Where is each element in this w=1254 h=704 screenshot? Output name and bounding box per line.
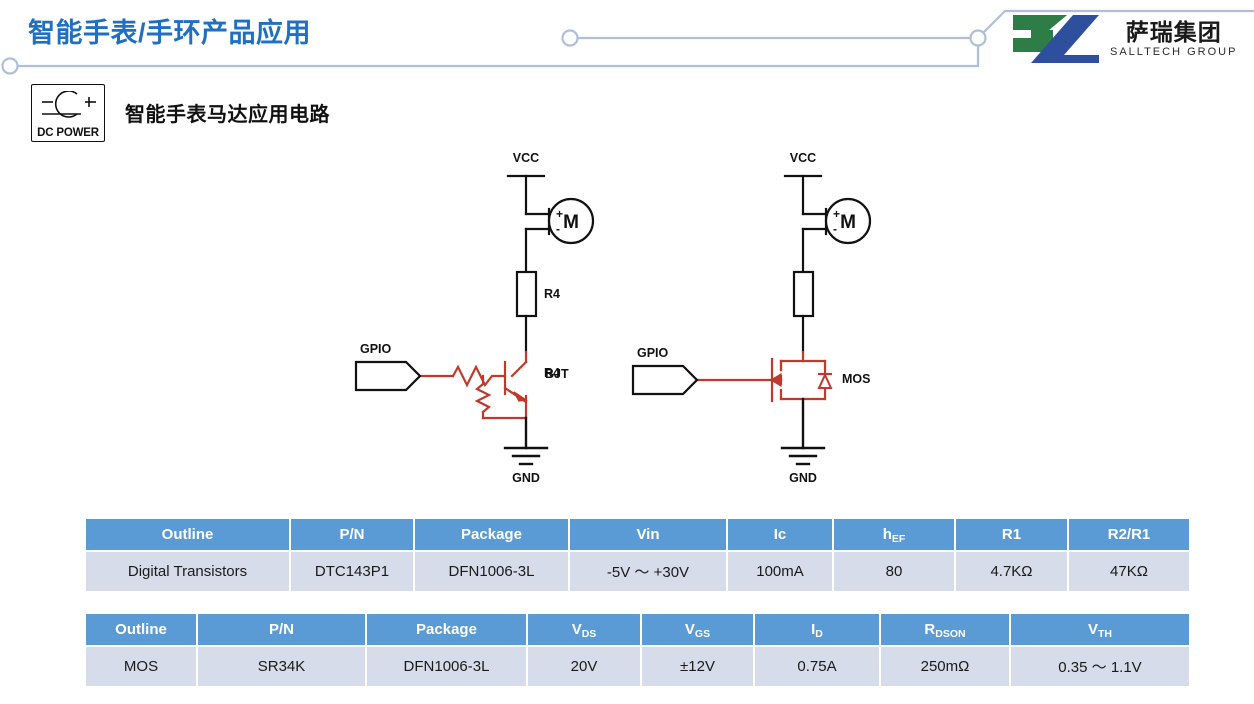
section-heading: 智能手表马达应用电路	[125, 98, 330, 127]
mos-motor-plus: +	[833, 207, 840, 221]
mos-body-diode	[819, 375, 831, 388]
table-cell-2: DFN1006-3L	[366, 646, 527, 686]
bjt-gpio-label: GPIO	[360, 342, 392, 356]
dc-power-icon	[39, 91, 99, 125]
slide-page: 智能手表/手环产品应用 萨瑞集团 SALLTECH GROUP	[0, 0, 1254, 704]
table-header-row: OutlineP/NPackageVDSVGSIDRDSONVTH	[86, 614, 1189, 646]
bjt-spec-table: OutlineP/NPackageVinIchEFR1R2/R1 Digital…	[86, 519, 1189, 591]
table-cell-5: 0.75A	[754, 646, 880, 686]
mos-spec-table: OutlineP/NPackageVDSVGSIDRDSONVTH MOSSR3…	[86, 614, 1189, 686]
table-cell-6: 4.7KΩ	[955, 551, 1068, 591]
column-header-3: VDS	[527, 614, 641, 646]
table-body: Digital TransistorsDTC143P1DFN1006-3L-5V…	[86, 551, 1189, 591]
table-cell-1: DTC143P1	[290, 551, 414, 591]
column-header-4: Ic	[727, 519, 833, 551]
bjt-motor-plus: +	[556, 207, 563, 221]
column-header-subscript: DSON	[935, 628, 965, 640]
table-cell-3: -5V ～ +30V	[569, 551, 727, 591]
mos-motor-label: M	[840, 212, 856, 233]
column-header-3: Vin	[569, 519, 727, 551]
dc-power-badge: DC POWER	[31, 84, 105, 142]
column-header-2: Package	[414, 519, 569, 551]
bjt-resistor-label-r4: R4	[544, 287, 560, 301]
column-header-6: RDSON	[880, 614, 1010, 646]
table-cell-7: 0.35 ～ 1.1V	[1010, 646, 1189, 686]
table-row: Digital TransistorsDTC143P1DFN1006-3L-5V…	[86, 551, 1189, 591]
deco-circle-mid	[563, 31, 578, 46]
page-title: 智能手表/手环产品应用	[28, 11, 311, 50]
column-header-subscript: DS	[582, 628, 597, 640]
table-cell-5: 80	[833, 551, 955, 591]
bjt-gpio-port	[356, 362, 420, 390]
table-cell-3: 20V	[527, 646, 641, 686]
mos-gpio-port	[633, 366, 697, 394]
table-cell-1: SR34K	[197, 646, 366, 686]
table-cell-4: 100mA	[727, 551, 833, 591]
salltech-logo-icon	[1011, 13, 1101, 65]
bjt-motor-minus: -	[556, 222, 560, 236]
dc-power-label: DC POWER	[32, 127, 104, 139]
table-row: MOSSR34KDFN1006-3L20V±12V0.75A250mΩ0.35 …	[86, 646, 1189, 686]
table-body: MOSSR34KDFN1006-3L20V±12V0.75A250mΩ0.35 …	[86, 646, 1189, 686]
table-cell-2: DFN1006-3L	[414, 551, 569, 591]
column-header-subscript: EF	[892, 533, 905, 545]
deco-circle-left	[3, 59, 18, 74]
table-cell-0: Digital Transistors	[86, 551, 290, 591]
logo-text-cn: 萨瑞集团	[1126, 21, 1222, 44]
column-header-5: hEF	[833, 519, 955, 551]
table-header-row: OutlineP/NPackageVinIchEFR1R2/R1	[86, 519, 1189, 551]
logo-text-en: SALLTECH GROUP	[1110, 47, 1237, 58]
column-header-7: R2/R1	[1068, 519, 1189, 551]
column-header-subscript: D	[815, 628, 823, 640]
table-cell-4: ±12V	[641, 646, 754, 686]
circuit-diagrams: M + -	[340, 148, 960, 498]
table-cell-6: 250mΩ	[880, 646, 1010, 686]
bjt-circuit: M + -	[356, 151, 593, 485]
deco-circle-right	[971, 31, 986, 46]
bjt-device-name: BJT	[545, 367, 569, 381]
column-header-0: Outline	[86, 519, 290, 551]
bjt-vcc-label: VCC	[513, 151, 539, 165]
mos-circuit: M + -	[633, 151, 870, 485]
brand-logo: 萨瑞集团 SALLTECH GROUP	[1011, 13, 1237, 65]
mos-gnd-label: GND	[789, 471, 817, 485]
bjt-motor-label: M	[563, 212, 579, 233]
bjt-gnd-label: GND	[512, 471, 540, 485]
column-header-6: R1	[955, 519, 1068, 551]
column-header-4: VGS	[641, 614, 754, 646]
column-header-1: P/N	[290, 519, 414, 551]
mos-motor-minus: -	[833, 222, 837, 236]
column-header-5: ID	[754, 614, 880, 646]
table-cell-0: MOS	[86, 646, 197, 686]
mos-device-name: MOS	[842, 372, 870, 386]
mos-vcc-label: VCC	[790, 151, 816, 165]
column-header-7: VTH	[1010, 614, 1189, 646]
column-header-2: Package	[366, 614, 527, 646]
mos-gpio-label: GPIO	[637, 346, 669, 360]
column-header-subscript: TH	[1098, 628, 1112, 640]
table-cell-7: 47KΩ	[1068, 551, 1189, 591]
bjt-emitter-arrow	[514, 392, 526, 401]
column-header-subscript: GS	[695, 628, 710, 640]
column-header-1: P/N	[197, 614, 366, 646]
column-header-0: Outline	[86, 614, 197, 646]
